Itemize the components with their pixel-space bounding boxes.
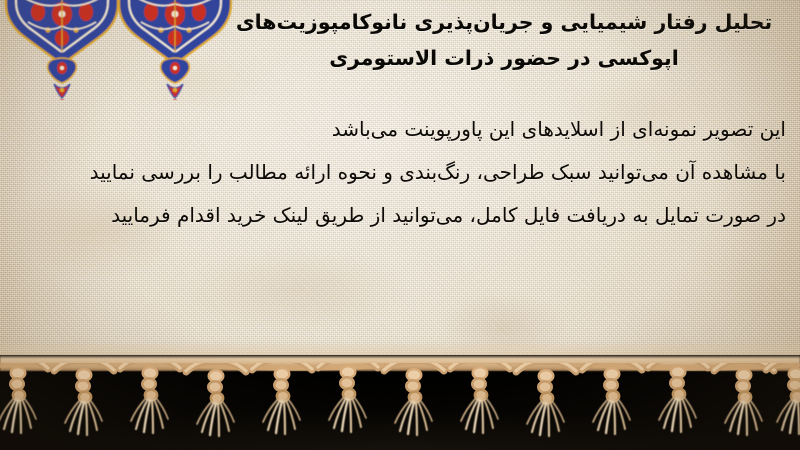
- fringe-tassels: [0, 363, 800, 436]
- carpet-fringe-row: [0, 363, 800, 443]
- slide-title: تحلیل رفتار شیمیایی و جریان‌پذیری نانوکا…: [224, 4, 784, 76]
- body-line-3: در صورت تمایل به دریافت فایل کامل، می‌تو…: [10, 194, 786, 237]
- slide-canvas: تحلیل رفتار شیمیایی و جریان‌پذیری نانوکا…: [0, 0, 800, 450]
- carpet-fringe-svg: [0, 363, 800, 443]
- body-line-1: این تصویر نمونه‌ای از اسلایدهای این پاور…: [10, 108, 786, 151]
- body-line-2: با مشاهده آن می‌توانید سبک طراحی، رنگ‌بن…: [10, 151, 786, 194]
- carpet-black-band: [0, 355, 800, 450]
- slide-body: این تصویر نمونه‌ای از اسلایدهای این پاور…: [10, 108, 786, 237]
- carpet-selvedge-fuzz: [0, 345, 800, 363]
- title-line-1: تحلیل رفتار شیمیایی و جریان‌پذیری نانوکا…: [224, 4, 784, 40]
- title-line-2: اپوکسی در حضور ذرات الاستومری: [224, 40, 784, 76]
